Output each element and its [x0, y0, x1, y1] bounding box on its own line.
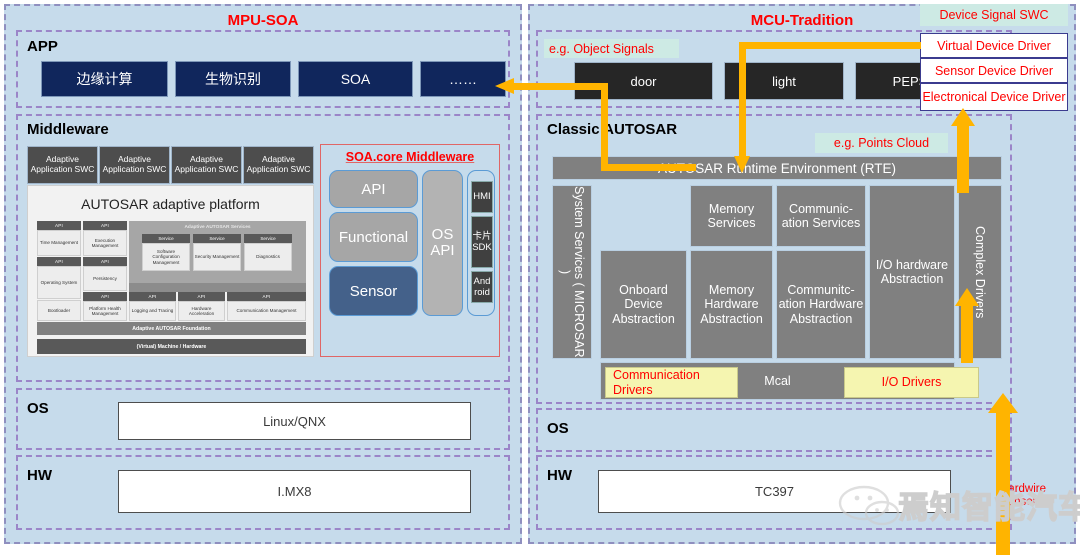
- cell-logging-and-tracing: Logging and Tracing: [129, 301, 176, 321]
- cell-bootloader: Bootloader: [37, 300, 81, 321]
- watermark-text: 焉知智能汽车: [898, 482, 1080, 527]
- mpu-os-value: Linux/QNX: [118, 402, 471, 440]
- soa-platform-rail: HMI 卡片SDK Android: [467, 170, 495, 316]
- mpu-os-label: OS: [27, 400, 49, 417]
- adaptive-autosar-services-area: Adaptive AUTOSAR Services Service Softwa…: [129, 221, 306, 283]
- adaptive-swc-1: Adaptive Application SWC: [99, 146, 170, 184]
- mcu-os-label: OS: [547, 420, 569, 437]
- mpu-soa-title: MPU-SOA: [6, 10, 520, 30]
- wechat-watermark-icon: [838, 485, 900, 527]
- service-header-0: Service: [142, 234, 190, 243]
- connector-a-vertical: [601, 88, 608, 171]
- connector-a-horizontal: [513, 83, 608, 90]
- classic-autosar-label: Classic AUTOSAR: [547, 121, 677, 138]
- connector-b-horizontal: [739, 42, 921, 49]
- services-header: Adaptive AUTOSAR Services: [129, 222, 306, 232]
- cell-communication-management: Communication Management: [227, 301, 306, 321]
- communication-hardware-abstraction: Communitc-ation Hardware Abstraction: [776, 250, 866, 359]
- adaptive-swc-0: Adaptive Application SWC: [27, 146, 98, 184]
- app-item-0[interactable]: 边缘计算: [41, 61, 168, 97]
- soa-block-sensor[interactable]: Sensor: [329, 266, 418, 316]
- soa-core-title: SOA.core Middleware: [321, 148, 499, 166]
- adaptive-platform-detail: API Time Management API Operating System…: [37, 221, 306, 335]
- soa-os-api[interactable]: OS API: [422, 170, 463, 316]
- soa-core-middleware: SOA.core Middleware API Functional Senso…: [320, 144, 500, 357]
- memory-services: Memory Services: [690, 185, 773, 247]
- connector-b-vertical: [739, 42, 746, 159]
- adaptive-autosar-foundation: Adaptive AUTOSAR Foundation: [37, 322, 306, 335]
- driver-electronical-device[interactable]: Electronical Device Driver: [920, 83, 1068, 111]
- api-label-os: API: [37, 257, 81, 266]
- api-label-persistency: API: [83, 257, 127, 266]
- adaptive-platform-title: AUTOSAR adaptive platform: [28, 189, 313, 219]
- app-item-3[interactable]: ……: [420, 61, 506, 97]
- mcu-os-section: OS: [536, 408, 1012, 452]
- app-section: APP 边缘计算 生物识别 SOA ……: [16, 30, 510, 108]
- connector-a-stub: [601, 164, 696, 171]
- io-hardware-abstraction: I/O hardware Abstraction: [869, 185, 955, 359]
- adaptive-swc-3: Adaptive Application SWC: [243, 146, 314, 184]
- services-spacer: [129, 283, 306, 292]
- api-label-phm: API: [83, 292, 127, 301]
- app-item-2[interactable]: SOA: [298, 61, 413, 97]
- communication-drivers[interactable]: Communication Drivers: [605, 367, 738, 398]
- onboard-device-abstraction: Onboard Device Abstraction: [600, 250, 687, 359]
- mcu-hw-label: HW: [547, 467, 572, 484]
- soa-mini-hmi[interactable]: HMI: [471, 181, 493, 213]
- driver-sensor-device[interactable]: Sensor Device Driver: [920, 58, 1068, 83]
- service-header-2: Service: [244, 234, 292, 243]
- mpu-os-section: OS Linux/QNX: [16, 388, 510, 450]
- autosar-adaptive-platform: AUTOSAR adaptive platform API Time Manag…: [27, 185, 314, 357]
- connector-e-arrowhead: [988, 393, 1018, 413]
- api-label-commmgmt: API: [227, 292, 306, 301]
- system-services-microsar: System Services ( MICROSAR ): [552, 185, 592, 359]
- adaptive-swc-2: Adaptive Application SWC: [171, 146, 242, 184]
- signal-box-door[interactable]: door: [574, 62, 713, 100]
- object-signals-label: e.g. Object Signals: [544, 39, 679, 58]
- soa-block-api[interactable]: API: [329, 170, 418, 208]
- connector-d-shaft: [961, 305, 973, 363]
- io-drivers[interactable]: I/O Drivers: [844, 367, 979, 398]
- cell-platform-health-management: Platform Health Management: [83, 301, 127, 321]
- cell-persistency: Persistency: [83, 266, 127, 291]
- mcal-band: Mcal Communication Drivers I/O Drivers: [600, 362, 955, 400]
- communication-services: Communic-ation Services: [776, 185, 866, 247]
- memory-hardware-abstraction: Memory Hardware Abstraction: [690, 250, 773, 359]
- api-label-execution: API: [83, 221, 127, 230]
- connector-d-arrowhead: [955, 288, 979, 306]
- connector-a-arrowhead: [495, 78, 514, 94]
- middleware-label: Middleware: [27, 121, 109, 138]
- connector-c-shaft: [957, 125, 969, 193]
- app-label: APP: [27, 38, 58, 55]
- cell-software-configuration-management: Software Configuration Management: [142, 243, 190, 271]
- points-cloud-callout: e.g. Points Cloud: [815, 133, 948, 153]
- mpu-hw-section: HW I.MX8: [16, 455, 510, 530]
- device-signal-swc-label: Device Signal SWC: [920, 4, 1068, 26]
- cell-execution-management: Execution Management: [83, 230, 127, 256]
- soa-block-functional[interactable]: Functional: [329, 212, 418, 262]
- middleware-section: Middleware Adaptive Application SWC Adap…: [16, 114, 510, 382]
- mpu-hw-label: HW: [27, 467, 52, 484]
- connector-b-arrowhead: [734, 156, 750, 173]
- cell-time-management: Time Management: [37, 230, 81, 256]
- connector-c-arrowhead: [951, 108, 975, 126]
- app-item-1[interactable]: 生物识别: [175, 61, 291, 97]
- cell-hardware-acceleration: Hardware Acceleration: [178, 301, 225, 321]
- diagram-root: MPU-SOA APP 边缘计算 生物识别 SOA …… Middleware …: [0, 0, 1080, 555]
- driver-virtual-device[interactable]: Virtual Device Driver: [920, 33, 1068, 58]
- api-label-logging: API: [129, 292, 176, 301]
- soa-mini-android[interactable]: Android: [471, 271, 493, 303]
- cell-security-management: Security Management: [193, 243, 241, 271]
- virtual-machine-hardware: (Virtual) Machine / Hardware: [37, 339, 306, 354]
- cell-diagnostics: Diagnostics: [244, 243, 292, 271]
- cell-operating-system: Operating System: [37, 266, 81, 299]
- mpu-hw-value: I.MX8: [118, 470, 471, 513]
- soa-mini-card-sdk[interactable]: 卡片SDK: [471, 216, 493, 268]
- api-label-hwaccel: API: [178, 292, 225, 301]
- service-header-1: Service: [193, 234, 241, 243]
- api-label-time: API: [37, 221, 81, 230]
